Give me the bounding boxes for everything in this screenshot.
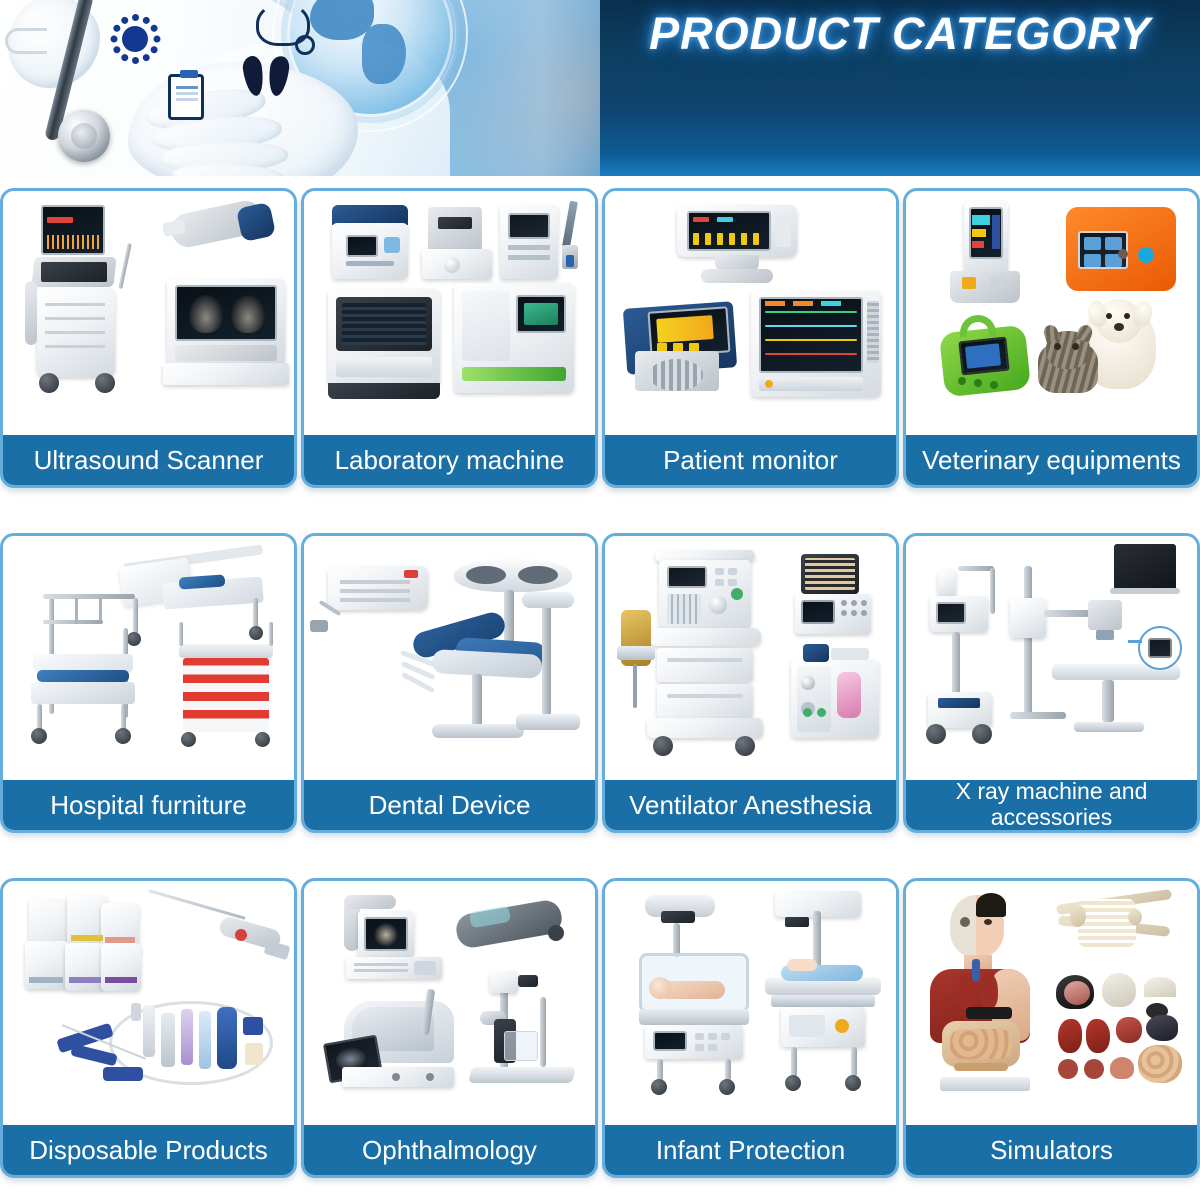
page-title: PRODUCT CATEGORY xyxy=(649,8,1151,60)
patient-monitor-icon xyxy=(605,191,896,438)
category-label: Infant Protection xyxy=(605,1125,896,1175)
category-card-laboratory-machine[interactable]: Laboratory machine xyxy=(301,188,598,488)
category-label: Patient monitor xyxy=(605,435,896,485)
category-card-simulators[interactable]: Simulators xyxy=(903,878,1200,1178)
lungs-icon xyxy=(244,56,288,96)
disposable-products-icon xyxy=(3,881,294,1128)
category-card-disposable-products[interactable]: Disposable Products xyxy=(0,878,297,1178)
product-category-page: PRODUCT CATEGORY xyxy=(0,0,1200,1200)
category-card-veterinary-equipments[interactable]: Veterinary equipments xyxy=(903,188,1200,488)
category-label: Veterinary equipments xyxy=(906,435,1197,485)
category-label: Dental Device xyxy=(304,780,595,830)
virus-icon xyxy=(122,26,148,52)
banner-edge-fade xyxy=(450,0,600,176)
category-card-infant-protection[interactable]: Infant Protection xyxy=(602,878,899,1178)
category-card-dental-device[interactable]: Dental Device xyxy=(301,533,598,833)
stethoscope-earpiece xyxy=(5,28,47,54)
stethoscope-icon xyxy=(58,110,110,162)
category-label: Simulators xyxy=(906,1125,1197,1175)
xray-machine-icon xyxy=(906,536,1197,783)
category-label: Ophthalmology xyxy=(304,1125,595,1175)
stethoscope-outline-icon xyxy=(256,2,310,46)
laboratory-machine-icon xyxy=(304,191,595,438)
anatomical-model-icon xyxy=(906,881,1197,1128)
category-label: X ray machine and accessories xyxy=(906,780,1197,830)
dental-chair-icon xyxy=(304,536,595,783)
category-card-ophthalmology[interactable]: Ophthalmology xyxy=(301,878,598,1178)
hero-banner-image xyxy=(0,0,600,176)
category-grid: Ultrasound Scanner xyxy=(0,176,1200,1178)
title-panel: PRODUCT CATEGORY xyxy=(600,0,1200,176)
infant-incubator-icon xyxy=(605,881,896,1128)
category-card-hospital-furniture[interactable]: Hospital furniture xyxy=(0,533,297,833)
category-label: Laboratory machine xyxy=(304,435,595,485)
page-header: PRODUCT CATEGORY xyxy=(0,0,1200,176)
category-card-ultrasound-scanner[interactable]: Ultrasound Scanner xyxy=(0,188,297,488)
ultrasound-scanner-icon xyxy=(3,191,294,438)
category-card-patient-monitor[interactable]: Patient monitor xyxy=(602,188,899,488)
veterinary-equipment-icon xyxy=(906,191,1197,438)
category-card-ventilator-anesthesia[interactable]: Ventilator Anesthesia xyxy=(602,533,899,833)
category-label: Hospital furniture xyxy=(3,780,294,830)
category-label: Ventilator Anesthesia xyxy=(605,780,896,830)
clipboard-icon xyxy=(168,74,204,120)
category-card-xray-machine[interactable]: X ray machine and accessories xyxy=(903,533,1200,833)
ophthalmology-icon xyxy=(304,881,595,1128)
anesthesia-machine-icon xyxy=(605,536,896,783)
hospital-bed-icon xyxy=(3,536,294,783)
category-label: Ultrasound Scanner xyxy=(3,435,294,485)
category-label: Disposable Products xyxy=(3,1125,294,1175)
